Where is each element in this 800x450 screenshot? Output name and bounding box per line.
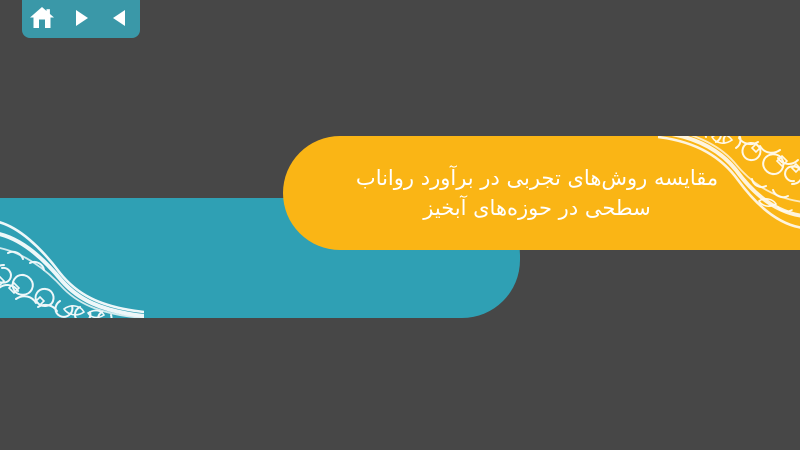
home-button[interactable] bbox=[27, 5, 57, 31]
slide-title: مقایسه روش‌های تجربی در برآورد رواناب سط… bbox=[283, 136, 800, 250]
title-banner: مقایسه روش‌های تجربی در برآورد رواناب سط… bbox=[283, 136, 800, 250]
triangle-left-icon bbox=[110, 8, 130, 28]
title-line-2: سطحی در حوزه‌های آبخیز bbox=[423, 193, 650, 223]
title-line-1: مقایسه روش‌های تجربی در برآورد رواناب bbox=[356, 163, 718, 193]
triangle-right-icon bbox=[71, 8, 91, 28]
arabesque-ornament-teal bbox=[0, 203, 144, 318]
presentation-slide: مقایسه روش‌های تجربی در برآورد رواناب سط… bbox=[0, 0, 800, 450]
previous-slide-button[interactable] bbox=[105, 5, 135, 31]
next-slide-button[interactable] bbox=[66, 5, 96, 31]
home-icon bbox=[29, 6, 55, 30]
slide-navigation-bar bbox=[22, 0, 140, 38]
